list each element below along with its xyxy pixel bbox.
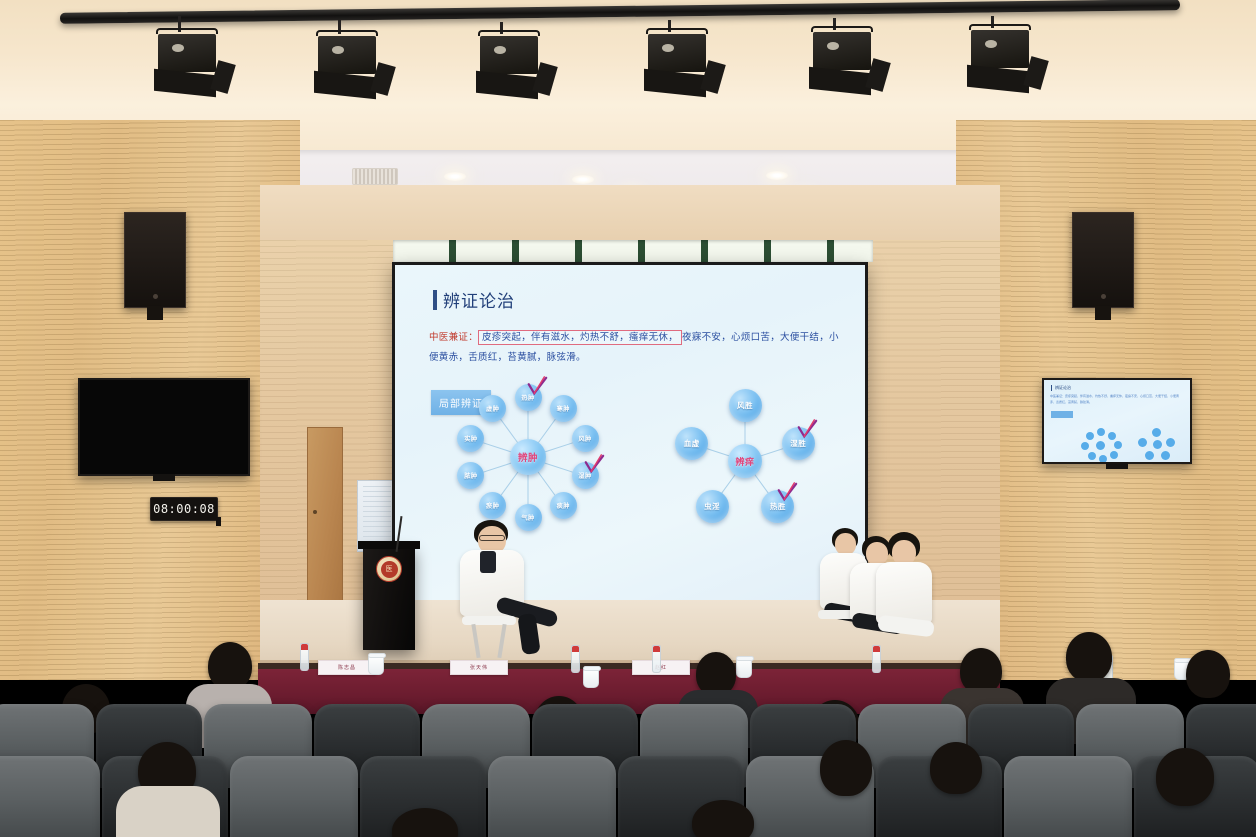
speaker-logo-icon — [1101, 294, 1106, 299]
presenter-inner-shirt — [480, 551, 496, 573]
diagram-spoke — [720, 473, 736, 495]
diagram-node: 风胜 — [729, 389, 762, 422]
diagram-node: 虫淫 — [696, 490, 729, 523]
mini-bubble — [1145, 451, 1154, 460]
mini-bubble — [1166, 438, 1175, 447]
audience-head — [930, 742, 982, 794]
ceiling-downlight — [572, 175, 594, 184]
audience-head — [1066, 632, 1112, 682]
mini-bubble-center — [1096, 441, 1105, 450]
mini-bubble — [1161, 451, 1170, 460]
mini-slide-text: 中医兼证：皮疹突起，伴有滋水，灼热不舒，瘙痒无休，夜寐不安，心烦口苦，大便干结，… — [1050, 394, 1184, 405]
mini-bubble — [1081, 442, 1089, 450]
diagram-spoke — [759, 448, 785, 457]
water-bottle — [300, 643, 309, 671]
ceiling-downlight — [444, 172, 466, 181]
notice-board-lines — [363, 486, 391, 546]
diagram-spoke — [705, 448, 731, 457]
clock-time: 08:00:08 — [153, 502, 215, 516]
cup-lid — [583, 666, 601, 671]
wall-speaker-right — [1072, 212, 1134, 308]
seat[interactable] — [230, 756, 358, 837]
speaker-logo-icon — [153, 294, 158, 299]
seat[interactable] — [488, 756, 616, 837]
seat[interactable] — [1004, 756, 1132, 837]
audience-head — [208, 642, 252, 690]
speaker-bracket — [147, 306, 163, 320]
wall-speaker-left — [124, 212, 186, 308]
mini-bubble — [1088, 452, 1096, 460]
presenter-seated — [452, 520, 562, 640]
countdown-clock[interactable]: 08:00:08 — [150, 497, 218, 521]
lecture-hall-scene: 辨证论治 中医兼证：皮疹突起，伴有滋水，灼热不舒，瘙痒无休，夜寐不安，心烦口苦，… — [0, 0, 1256, 837]
tv-stand — [153, 474, 175, 481]
bottle-cap — [572, 646, 579, 652]
bottle-cap — [873, 646, 880, 652]
emblem-inner: 医 — [381, 561, 398, 578]
tv-stand — [1106, 462, 1128, 469]
bottle-cap — [301, 644, 308, 650]
diagram-center-node: 辨痒 — [728, 444, 762, 478]
podium: 医 — [363, 546, 415, 650]
audience-seating — [0, 690, 1256, 837]
clock-mount — [216, 517, 221, 526]
mini-bubble-center — [1153, 440, 1162, 449]
institution-emblem: 医 — [376, 556, 402, 582]
diagram-node: 湿胜 — [782, 427, 815, 460]
cup-lid — [368, 653, 386, 658]
tea-cup — [583, 668, 599, 688]
stool-seat — [462, 616, 516, 625]
audience-head — [820, 740, 872, 796]
mini-bubble — [1152, 428, 1161, 437]
bottle-cap — [653, 646, 660, 652]
diagram-spoke — [745, 420, 746, 447]
left-tv-panel — [80, 380, 248, 474]
mini-slide-tag — [1051, 411, 1073, 418]
mini-bubble — [1099, 455, 1107, 462]
mini-bubble — [1086, 432, 1094, 440]
mini-bubble — [1108, 432, 1116, 440]
door-knob-icon[interactable] — [313, 510, 317, 514]
upper-wall-band — [260, 185, 1000, 245]
left-wall-tv[interactable] — [78, 378, 250, 476]
ceiling-downlight — [766, 171, 788, 180]
nameplate: 张天伟 — [450, 660, 508, 675]
clerestory-window-strip — [393, 240, 873, 262]
speaker-bracket — [1095, 306, 1111, 320]
water-bottle — [652, 645, 661, 673]
mini-bubble — [1097, 428, 1105, 436]
diagram-node: 热胜 — [761, 490, 794, 523]
side-door[interactable] — [307, 427, 343, 602]
audience-head — [1156, 748, 1214, 806]
mini-bubble — [1138, 438, 1147, 447]
audience-head — [692, 800, 754, 837]
right-tv-panel: 辨证论治 中医兼证：皮疹突起，伴有滋水，灼热不舒，瘙痒无休，夜寐不安，心烦口苦，… — [1044, 380, 1190, 462]
mini-bubble — [1114, 441, 1122, 449]
mini-slide-title: 辨证论治 — [1051, 385, 1071, 391]
panelist-3 — [876, 532, 942, 648]
diagram-node: 血虚 — [675, 427, 708, 460]
right-wall-tv[interactable]: 辨证论治 中医兼证：皮疹突起，伴有滋水，灼热不舒，瘙痒无休，夜寐不安，心烦口苦，… — [1042, 378, 1192, 464]
water-bottle — [872, 645, 881, 673]
audience-shoulders — [116, 786, 220, 837]
tea-cup — [368, 655, 384, 675]
water-bottle — [571, 645, 580, 673]
tea-cup — [736, 658, 752, 678]
audience-head — [1186, 650, 1230, 698]
podium-top — [358, 541, 420, 549]
ceiling-air-vent — [352, 168, 398, 185]
cup-lid — [736, 656, 754, 661]
glasses-icon — [479, 535, 505, 541]
seat[interactable] — [0, 756, 100, 837]
mini-bubble — [1110, 451, 1118, 459]
nameplate: 赵红 — [632, 660, 690, 675]
